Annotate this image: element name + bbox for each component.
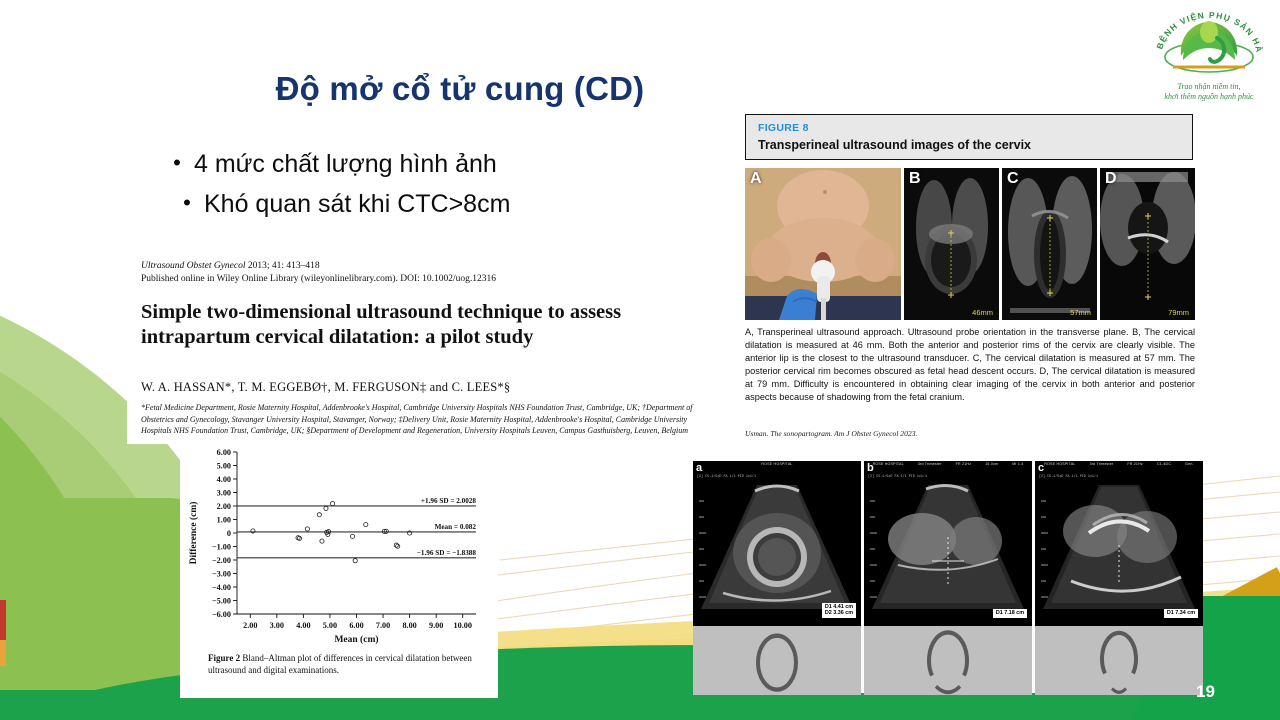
- cervix-shape-full-ring-icon: [693, 626, 861, 695]
- ultrasound-image-c: ROSE HOSPITAL 3rd Trimester FR 21Hz C1-4…: [1035, 461, 1203, 626]
- ultrasound-column-b: ROSE HOSPITAL 3rd Trimester FR 21Hz 15.0…: [864, 461, 1032, 693]
- figure-8-image-row: A B 46mm: [745, 168, 1195, 320]
- cervix-shape-narrow-ring-icon: [1035, 626, 1203, 695]
- ultrasound-column-a: ROSE HOSPITAL [2] C5-1/5xD FA 1/1 PID 1x…: [693, 461, 861, 693]
- cervix-ultrasound-c: [1002, 168, 1097, 320]
- ultrasound-a-d2: D2 3.36 cm: [825, 610, 853, 617]
- ultrasound-b-field-fr: FR 21Hz: [956, 462, 972, 475]
- figure-8-caption: A, Transperineal ultrasound approach. Ul…: [745, 326, 1195, 404]
- ultrasound-a-probe-line: [2] C5-1/5xD FA 1/1 PID 1x1/1: [697, 475, 756, 479]
- svg-text:Mean (cm): Mean (cm): [334, 634, 378, 645]
- ultrasound-b-hospital: ROSE HOSPITAL: [873, 462, 904, 475]
- svg-text:−1.96 SD = −1.8388: −1.96 SD = −1.8388: [417, 549, 477, 557]
- ultrasound-b-field-mi: MI 1.4: [1012, 462, 1023, 475]
- svg-text:5.00: 5.00: [217, 462, 231, 471]
- ultrasound-image-b: ROSE HOSPITAL 3rd Trimester FR 21Hz 15.0…: [864, 461, 1032, 626]
- cervix-diagram-a: [693, 626, 861, 695]
- cervix-ultrasound-b: [904, 168, 999, 320]
- ultrasound-b-letter: b: [867, 462, 874, 474]
- ultrasound-column-c: ROSE HOSPITAL 3rd Trimester FR 21Hz C1-4…: [1035, 461, 1203, 693]
- ultrasound-c-letter: c: [1038, 462, 1044, 474]
- panel-d-measurement: 79mm: [1168, 308, 1189, 317]
- cervix-diagram-b: [864, 626, 1032, 695]
- ultrasound-b-field-depth: 15.0cm: [985, 462, 998, 475]
- page-title: Độ mở cổ tử cung (CD): [150, 70, 770, 108]
- panel-letter-a: A: [750, 170, 762, 188]
- ultrasound-b-measurements: D1 7.18 cm: [993, 609, 1027, 618]
- svg-text:7.00: 7.00: [376, 621, 390, 630]
- article-metadata: Ultrasound Obstet Gynecol 2013; 41: 413–…: [141, 260, 496, 286]
- chart-caption-label: Figure 2: [208, 653, 240, 663]
- figure-8-panel: FIGURE 8 Transperineal ultrasound images…: [745, 114, 1195, 439]
- ultrasound-c-probe-line: [2] C5-1/5xD FA 1/1 PID 1x1/1: [1039, 475, 1098, 479]
- transperineal-approach-photo: [745, 168, 901, 320]
- svg-text:4.00: 4.00: [296, 621, 310, 630]
- figure-8-panel-c-ultrasound: C 57mm: [1002, 168, 1097, 320]
- ultrasound-c-field-fr: FR 21Hz: [1127, 462, 1143, 475]
- decor-red-sliver: [0, 600, 6, 640]
- svg-text:9.00: 9.00: [429, 621, 443, 630]
- svg-text:−2.00: −2.00: [212, 556, 231, 565]
- ultrasound-c-field-probe: C1-4DC: [1157, 462, 1171, 475]
- figure-8-source: Usman. The sonopartogram. Am J Obstet Gy…: [745, 429, 917, 438]
- ultrasound-scan-a: [693, 461, 861, 626]
- slide-number: 19: [1196, 682, 1215, 702]
- ultrasound-a-letter: a: [696, 462, 702, 474]
- ultrasound-scan-c: [1035, 461, 1203, 626]
- article-journal-line: Ultrasound Obstet Gynecol 2013; 41: 413–…: [141, 260, 496, 273]
- decor-gold-band-right: [1215, 567, 1280, 653]
- ultrasound-c-d1: D1 7.34 cm: [1167, 610, 1195, 617]
- figure-8-panel-d-ultrasound: D 79mm: [1100, 168, 1195, 320]
- logo-tagline-line1: Trao nhận niềm tin,: [1139, 82, 1279, 92]
- ultrasound-a-measurements: D1 4.41 cm D2 3.36 cm: [822, 603, 856, 619]
- figure-8-panel-a-photo: A: [745, 168, 901, 320]
- list-item-label: 4 mức chất lượng hình ảnh: [194, 148, 497, 182]
- list-item: • Khó quan sát khi CTC>8cm: [160, 188, 680, 222]
- panel-b-measurement: 46mm: [972, 308, 993, 317]
- svg-text:−5.00: −5.00: [212, 597, 231, 606]
- ultrasound-a-d1: D1 4.41 cm: [825, 604, 853, 611]
- cervix-ultrasound-d: [1100, 168, 1195, 320]
- presentation-slide: BỆNH VIỆN PHỤ SẢN HÀ NỘI Trao nhận niềm …: [0, 0, 1280, 720]
- figure-8-panel-b-ultrasound: B 46mm: [904, 168, 999, 320]
- article-authors: W. A. HASSAN*, T. M. EGGEBØ†, M. FERGUSO…: [141, 380, 510, 395]
- ultrasound-scan-b: [864, 461, 1032, 626]
- chart-caption-text: Bland–Altman plot of differences in cerv…: [208, 653, 472, 675]
- svg-text:5.00: 5.00: [323, 621, 337, 630]
- svg-text:−4.00: −4.00: [212, 583, 231, 592]
- article-title: Simple two-dimensional ultrasound techni…: [141, 300, 701, 350]
- decor-orange-sliver: [0, 640, 6, 666]
- svg-text:−1.00: −1.00: [212, 543, 231, 552]
- panel-letter-b: B: [909, 170, 921, 188]
- ultrasound-a-header: ROSE HOSPITAL: [693, 461, 861, 475]
- svg-text:−6.00: −6.00: [212, 610, 231, 619]
- svg-text:1.00: 1.00: [217, 516, 231, 525]
- logo-tagline-line2: khơi thêm nguồn hạnh phúc: [1139, 92, 1279, 102]
- figure-8-header: FIGURE 8 Transperineal ultrasound images…: [745, 114, 1193, 160]
- decor-green-blob-mid: [0, 292, 130, 720]
- logo-tagline: Trao nhận niềm tin, khơi thêm nguồn hạnh…: [1139, 82, 1279, 103]
- bland-altman-plot: 6.005.004.003.002.001.000−1.00−2.00−3.00…: [180, 444, 498, 654]
- bland-altman-chart-clipping: 6.005.004.003.002.001.000−1.00−2.00−3.00…: [180, 444, 498, 698]
- article-affiliations: *Fetal Medicine Department, Rosie Matern…: [141, 402, 701, 437]
- svg-text:8.00: 8.00: [402, 621, 416, 630]
- figure-8-label: FIGURE 8: [758, 122, 809, 134]
- svg-text:4.00: 4.00: [217, 475, 231, 484]
- panel-c-measurement: 57mm: [1070, 308, 1091, 317]
- list-item: • 4 mức chất lượng hình ảnh: [160, 148, 680, 182]
- svg-text:Mean = 0.082: Mean = 0.082: [435, 523, 477, 531]
- svg-text:6.00: 6.00: [349, 621, 363, 630]
- ultrasound-c-trimester: 3rd Trimester: [1090, 462, 1114, 475]
- journal-article-clipping: Ultrasound Obstet Gynecol 2013; 41: 413–…: [127, 252, 717, 444]
- logo-mark-icon: BỆNH VIỆN PHỤ SẢN HÀ NỘI: [1139, 12, 1279, 84]
- ultrasound-c-measurements: D1 7.34 cm: [1164, 609, 1198, 618]
- article-journal-name: Ultrasound Obstet Gynecol: [141, 261, 246, 271]
- svg-text:6.00: 6.00: [217, 448, 231, 457]
- ultrasound-trio: ROSE HOSPITAL [2] C5-1/5xD FA 1/1 PID 1x…: [693, 461, 1203, 693]
- svg-text:10.00: 10.00: [454, 621, 472, 630]
- svg-text:2.00: 2.00: [243, 621, 257, 630]
- svg-text:−3.00: −3.00: [212, 570, 231, 579]
- ultrasound-a-hospital: ROSE HOSPITAL: [761, 462, 792, 475]
- svg-text:3.00: 3.00: [270, 621, 284, 630]
- hospital-logo: BỆNH VIỆN PHỤ SẢN HÀ NỘI Trao nhận niềm …: [1139, 12, 1279, 112]
- cervix-diagram-c: [1035, 626, 1203, 695]
- figure-8-title: Transperineal ultrasound images of the c…: [758, 138, 1031, 152]
- list-item-label: Khó quan sát khi CTC>8cm: [204, 188, 510, 222]
- ultrasound-c-field-gen: Gen.: [1185, 462, 1194, 475]
- ultrasound-b-header: ROSE HOSPITAL 3rd Trimester FR 21Hz 15.0…: [864, 461, 1032, 475]
- article-published-line: Published online in Wiley Online Library…: [141, 273, 496, 286]
- panel-letter-c: C: [1007, 170, 1019, 188]
- decor-green-blob-low: [0, 498, 210, 720]
- bullet-marker-icon: •: [160, 148, 194, 178]
- article-journal-volume: 2013; 41: 413–418: [246, 261, 320, 271]
- chart-caption: Figure 2 Bland–Altman plot of difference…: [208, 652, 480, 676]
- svg-text:0: 0: [227, 529, 231, 538]
- svg-text:2.00: 2.00: [217, 502, 231, 511]
- cervix-shape-open-ring-icon: [864, 626, 1032, 695]
- svg-text:Difference (cm): Difference (cm): [188, 502, 199, 565]
- svg-text:3.00: 3.00: [217, 489, 231, 498]
- ultrasound-image-a: ROSE HOSPITAL [2] C5-1/5xD FA 1/1 PID 1x…: [693, 461, 861, 626]
- bullet-list: • 4 mức chất lượng hình ảnh • Khó quan s…: [160, 148, 680, 228]
- ultrasound-c-hospital: ROSE HOSPITAL: [1044, 462, 1075, 475]
- ultrasound-b-trimester: 3rd Trimester: [918, 462, 942, 475]
- ultrasound-b-d1: D1 7.18 cm: [996, 610, 1024, 617]
- panel-letter-d: D: [1105, 170, 1117, 188]
- ultrasound-c-header: ROSE HOSPITAL 3rd Trimester FR 21Hz C1-4…: [1035, 461, 1203, 475]
- bullet-marker-icon: •: [170, 188, 204, 218]
- ultrasound-b-probe-line: [2] C5-1/5xD FA 1/1 PID 1x1/1: [868, 475, 927, 479]
- svg-text:+1.96 SD = 2.0028: +1.96 SD = 2.0028: [421, 497, 477, 505]
